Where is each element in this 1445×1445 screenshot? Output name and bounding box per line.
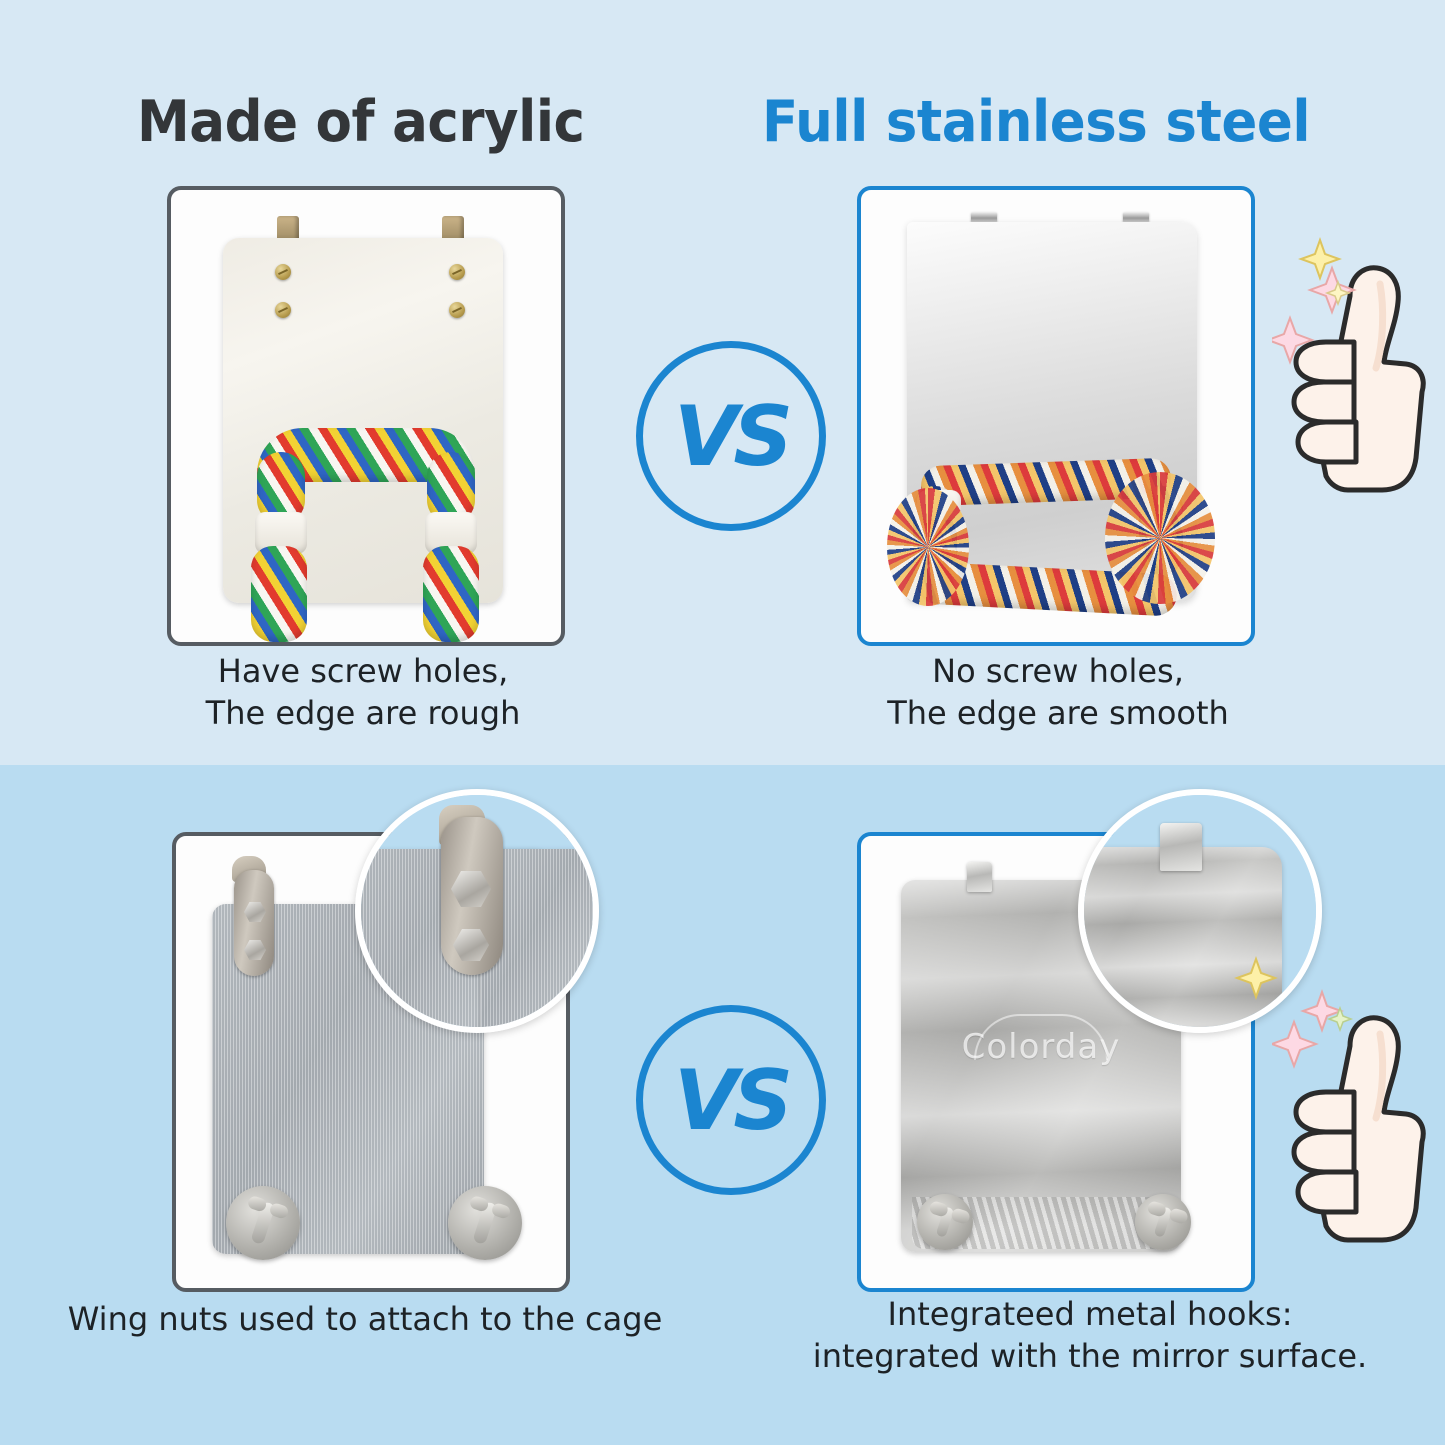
caption-acrylic: Have screw holes, The edge are rough (133, 650, 593, 734)
bolted-hook-icon (234, 870, 274, 976)
integrated-hook-icon (967, 862, 992, 892)
vs-label: VS (674, 388, 788, 485)
wing-nut-disc (226, 1186, 300, 1260)
vs-badge-top: VS (636, 341, 826, 531)
screw-icon (449, 302, 465, 318)
screw-icon (275, 302, 291, 318)
thumbs-up-icon-bottom (1272, 982, 1442, 1254)
sparkle-icon (1237, 959, 1275, 997)
sparkle-icon (1272, 1022, 1316, 1066)
rope-lower-left (251, 546, 307, 642)
photo-acrylic-mirror (167, 186, 565, 646)
comparison-infographic: Made of acrylic Full stainless steel (0, 0, 1445, 1445)
brand-name: Colorday (962, 1027, 1121, 1067)
screw-icon (275, 264, 291, 280)
rope-fray-left (887, 488, 969, 606)
integrated-hook-icon (1160, 823, 1202, 871)
heading-full-stainless-steel: Full stainless steel (762, 89, 1310, 155)
caption-integrated-hooks: Integrateed metal hooks: integrated with… (790, 1293, 1390, 1377)
rope-fray-right (1105, 472, 1215, 604)
wing-nut-icon (250, 1201, 275, 1245)
vs-badge-bottom: VS (636, 1005, 826, 1195)
stainless-photo-inner (861, 190, 1251, 642)
caption-wing-nuts: Wing nuts used to attach to the cage (60, 1298, 670, 1340)
heading-made-of-acrylic: Made of acrylic (137, 89, 585, 155)
magnifier-inset-bolted-hook (355, 789, 599, 1033)
photo-stainless-mirror (857, 186, 1255, 646)
wing-nut-icon (936, 1206, 955, 1238)
sparkle-icon (1303, 992, 1341, 1030)
thumbs-up-icon-top (1272, 232, 1442, 504)
wing-nut-icon (1154, 1206, 1173, 1238)
wing-nut-icon (472, 1201, 497, 1245)
fastener-disc (1135, 1194, 1191, 1250)
rope-lower-right (423, 546, 479, 642)
wing-nut-disc (448, 1186, 522, 1260)
caption-stainless: No screw holes, The edge are smooth (828, 650, 1288, 734)
vs-label: VS (674, 1052, 788, 1149)
screw-icon (449, 264, 465, 280)
fastener-disc (917, 1194, 973, 1250)
acrylic-photo-inner (171, 190, 561, 642)
